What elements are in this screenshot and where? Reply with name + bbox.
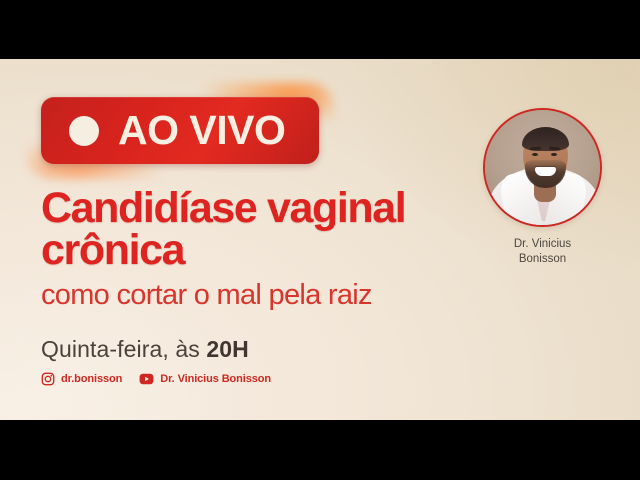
youtube-icon	[139, 372, 154, 386]
social-item-instagram[interactable]: dr.bonisson	[41, 372, 122, 386]
headline-subtitle: como cortar o mal pela raiz	[41, 280, 491, 310]
instagram-icon	[41, 372, 55, 386]
schedule-day: Quinta-feira, às	[41, 336, 206, 362]
youtube-handle: Dr. Vinicius Bonisson	[160, 373, 271, 385]
schedule-line: Quinta-feira, às 20H	[41, 336, 249, 363]
video-frame: AO VIVO Candidíase vaginal crônica como …	[0, 0, 640, 480]
schedule-time: 20H	[206, 336, 249, 362]
presenter-block: Dr. Vinicius Bonisson	[483, 108, 602, 266]
social-row: dr.bonisson Dr. Vinicius Bonisson	[41, 372, 271, 386]
photo-eye-right	[551, 153, 557, 156]
presenter-photo	[483, 108, 602, 227]
letterbox-bar-top	[0, 0, 640, 59]
headline-line-1: Candidíase vaginal	[41, 188, 491, 230]
letterbox-bar-bottom	[0, 420, 640, 480]
live-badge-body[interactable]: AO VIVO	[41, 97, 319, 164]
photo-eye-left	[532, 153, 538, 156]
instagram-handle: dr.bonisson	[61, 373, 122, 385]
headline-line-2: crônica	[41, 230, 491, 272]
live-dot-icon	[69, 116, 99, 146]
presenter-name-line-1: Dr. Vinicius	[483, 237, 602, 252]
photo-smile	[535, 167, 556, 176]
presenter-caption: Dr. Vinicius Bonisson	[483, 237, 602, 266]
social-item-youtube[interactable]: Dr. Vinicius Bonisson	[139, 372, 271, 386]
live-badge[interactable]: AO VIVO	[41, 97, 319, 164]
headline-block: Candidíase vaginal crônica como cortar o…	[41, 188, 491, 311]
presenter-name-line-2: Bonisson	[483, 252, 602, 267]
livestream-poster: AO VIVO Candidíase vaginal crônica como …	[0, 59, 640, 420]
live-badge-label: AO VIVO	[118, 110, 285, 151]
